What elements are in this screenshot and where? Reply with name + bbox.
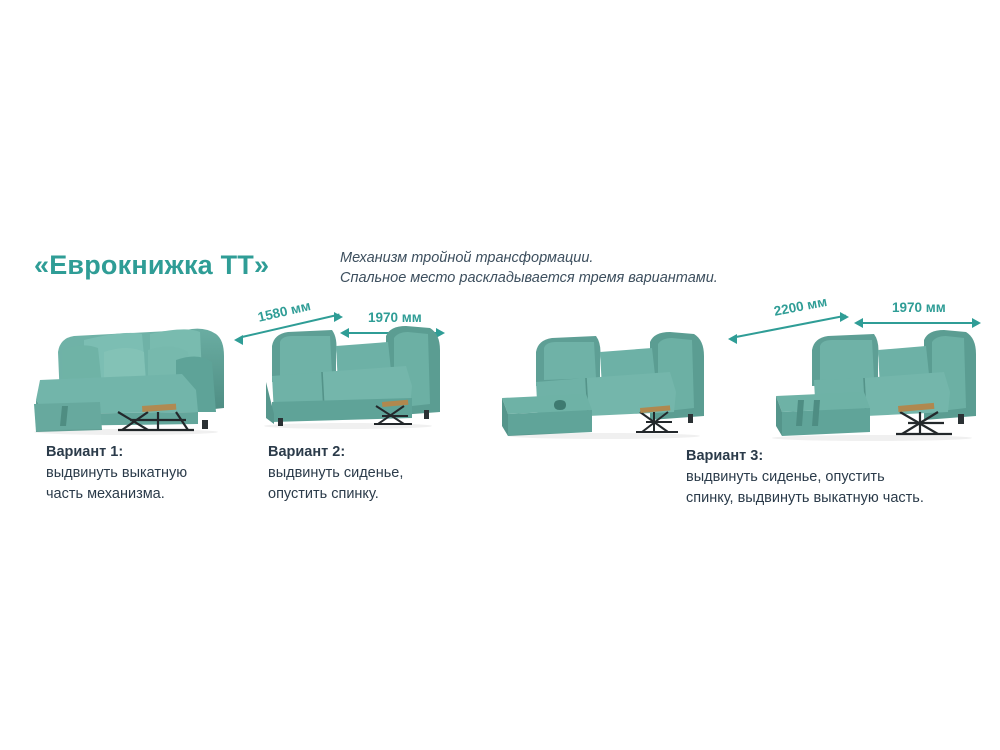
sofa-2-foot-right [424, 410, 429, 419]
variant-3-body: выдвинуть сиденье, опустить спинку, выдв… [686, 467, 986, 509]
variant-1-body: выдвинуть выкатную часть механизма. [46, 463, 246, 505]
dimension-2200-label: 2200 мм [773, 294, 829, 319]
sofa-illustration-3 [500, 322, 720, 442]
sofa-illustration-1 [26, 308, 246, 433]
page-title: «Еврокнижка ТТ» [34, 250, 269, 281]
dimension-1970-a-label: 1970 мм [368, 310, 422, 325]
dimension-1580-arrow-right [334, 312, 343, 322]
variant-1-title: Вариант 1: [46, 442, 246, 463]
variant-3-title: Вариант 3: [686, 446, 986, 467]
sofa-4-left-arm-inner [820, 340, 874, 380]
sofa-illustration-4 [752, 322, 982, 444]
sofa-2-shadow [264, 423, 432, 429]
sofa-3-foot-right [688, 414, 693, 423]
sofa-1-shadow [34, 429, 218, 435]
sofa-3-rollout-face [508, 410, 592, 436]
dimension-1970-b-label: 1970 мм [892, 300, 946, 315]
sofa-1-rollout-block [34, 402, 102, 432]
dimension-2200-arrow-left [728, 334, 737, 344]
page-subtitle: Механизм тройной трансформации. Спальное… [340, 248, 780, 288]
sofa-3-shadow [508, 433, 700, 439]
sofa-3-rollout-hole [554, 400, 566, 410]
sofa-2-left-arm-inner [280, 336, 332, 376]
sofa-illustration-2 [256, 324, 456, 434]
sofa-3-left-arm-inner [544, 342, 596, 380]
variant-2-title: Вариант 2: [268, 442, 478, 463]
sofa-4-shadow [772, 435, 972, 441]
variant-2-body: выдвинуть сиденье, опустить спинку. [268, 463, 478, 505]
poster-canvas: «Еврокнижка ТТ» Механизм тройной трансфо… [0, 0, 1000, 750]
dimension-2200-arrow-right [840, 312, 849, 322]
sofa-4-rollout-face [782, 408, 870, 436]
variant-1-caption: Вариант 1: выдвинуть выкатную часть меха… [46, 442, 246, 505]
variant-3-caption: Вариант 3: выдвинуть сиденье, опустить с… [686, 446, 986, 509]
variant-2-caption: Вариант 2: выдвинуть сиденье, опустить с… [268, 442, 478, 505]
sofa-4-foot-right [958, 414, 964, 424]
sofa-1-foot-right [202, 420, 208, 429]
